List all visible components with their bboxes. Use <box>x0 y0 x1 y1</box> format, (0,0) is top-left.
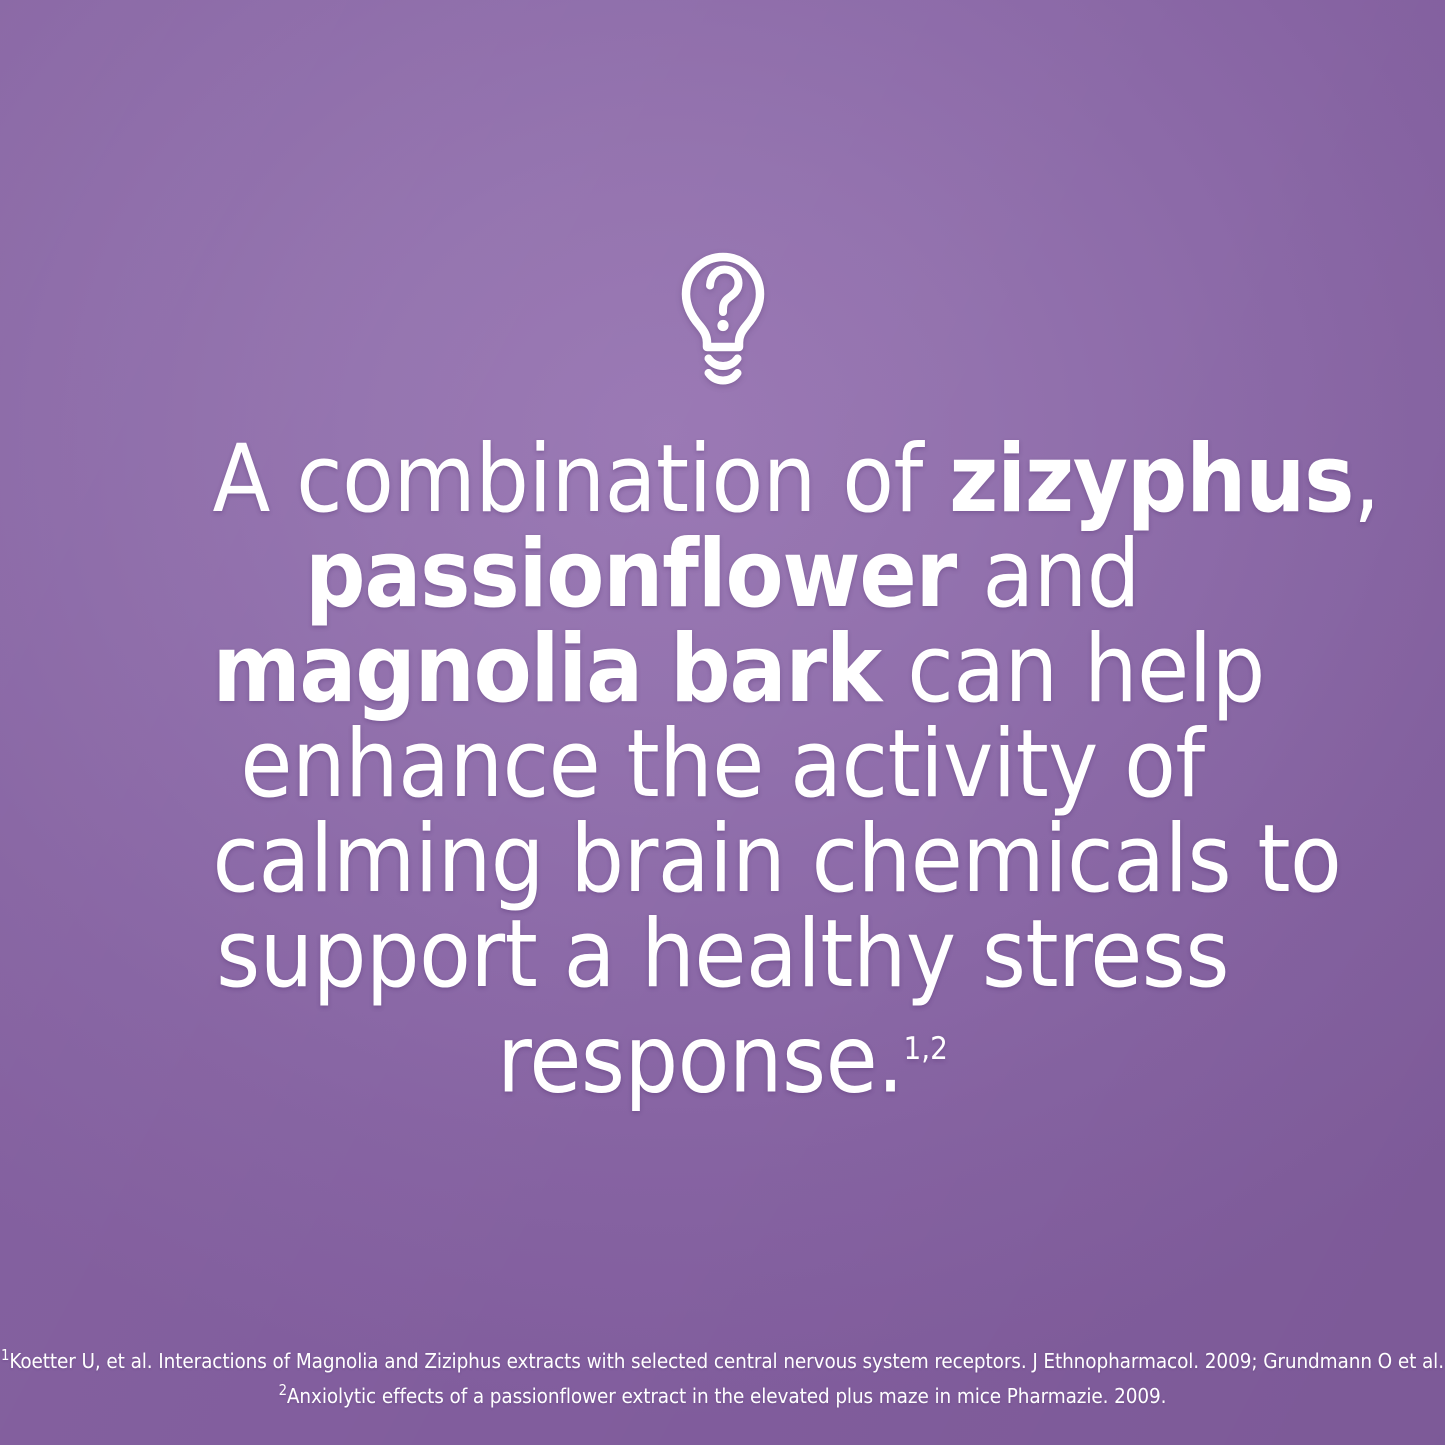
citations: 1Koetter U, et al. Interactions of Magno… <box>0 1341 1445 1411</box>
headline-line-1: A combination of zizyphus, <box>213 432 1233 527</box>
headline-line-5-pre: calming brain chemicals to <box>213 805 1342 914</box>
question-dot-icon <box>717 320 728 331</box>
headline-line-2: passionflower and <box>213 527 1233 622</box>
headline-line-2-bold: passionflower <box>305 520 956 629</box>
headline-line-2-post: and <box>956 520 1140 629</box>
lightbulb-question-icon <box>677 252 769 394</box>
headline-line-1-pre: A combination of <box>213 425 950 534</box>
headline-line-5: calming brain chemicals to <box>213 812 1233 907</box>
citation-1: 1Koetter U, et al. Interactions of Magno… <box>0 1341 1445 1376</box>
headline-line-1-bold: zizyphus <box>949 425 1353 534</box>
citation-2-marker: 2 <box>279 1382 287 1399</box>
lightbulb-question-icon-container <box>0 252 1445 394</box>
headline: A combination of zizyphus, passionflower… <box>213 432 1233 1107</box>
citation-1-text: Koetter U, et al. Interactions of Magnol… <box>9 1349 1444 1373</box>
headline-line-4: enhance the activity of <box>213 717 1233 812</box>
headline-line-7-pre: response. <box>497 1005 903 1114</box>
headline-line-3-post: can help <box>881 615 1265 724</box>
headline-line-4-pre: enhance the activity of <box>240 710 1204 819</box>
headline-line-7: response.1,2 <box>213 1002 1233 1107</box>
citation-2-text: Anxiolytic effects of a passionflower ex… <box>287 1384 1167 1408</box>
headline-line-6-pre: support a healthy stress <box>216 900 1229 1009</box>
headline-line-3-bold: magnolia bark <box>213 615 881 724</box>
headline-line-6: support a healthy stress <box>213 907 1233 1002</box>
headline-line-1-post: , <box>1353 425 1379 534</box>
headline-reference-superscript: 1,2 <box>903 1031 947 1067</box>
promo-card: A combination of zizyphus, passionflower… <box>0 0 1445 1445</box>
headline-line-3: magnolia bark can help <box>213 622 1233 717</box>
citation-2: 2Anxiolytic effects of a passionflower e… <box>0 1376 1445 1411</box>
